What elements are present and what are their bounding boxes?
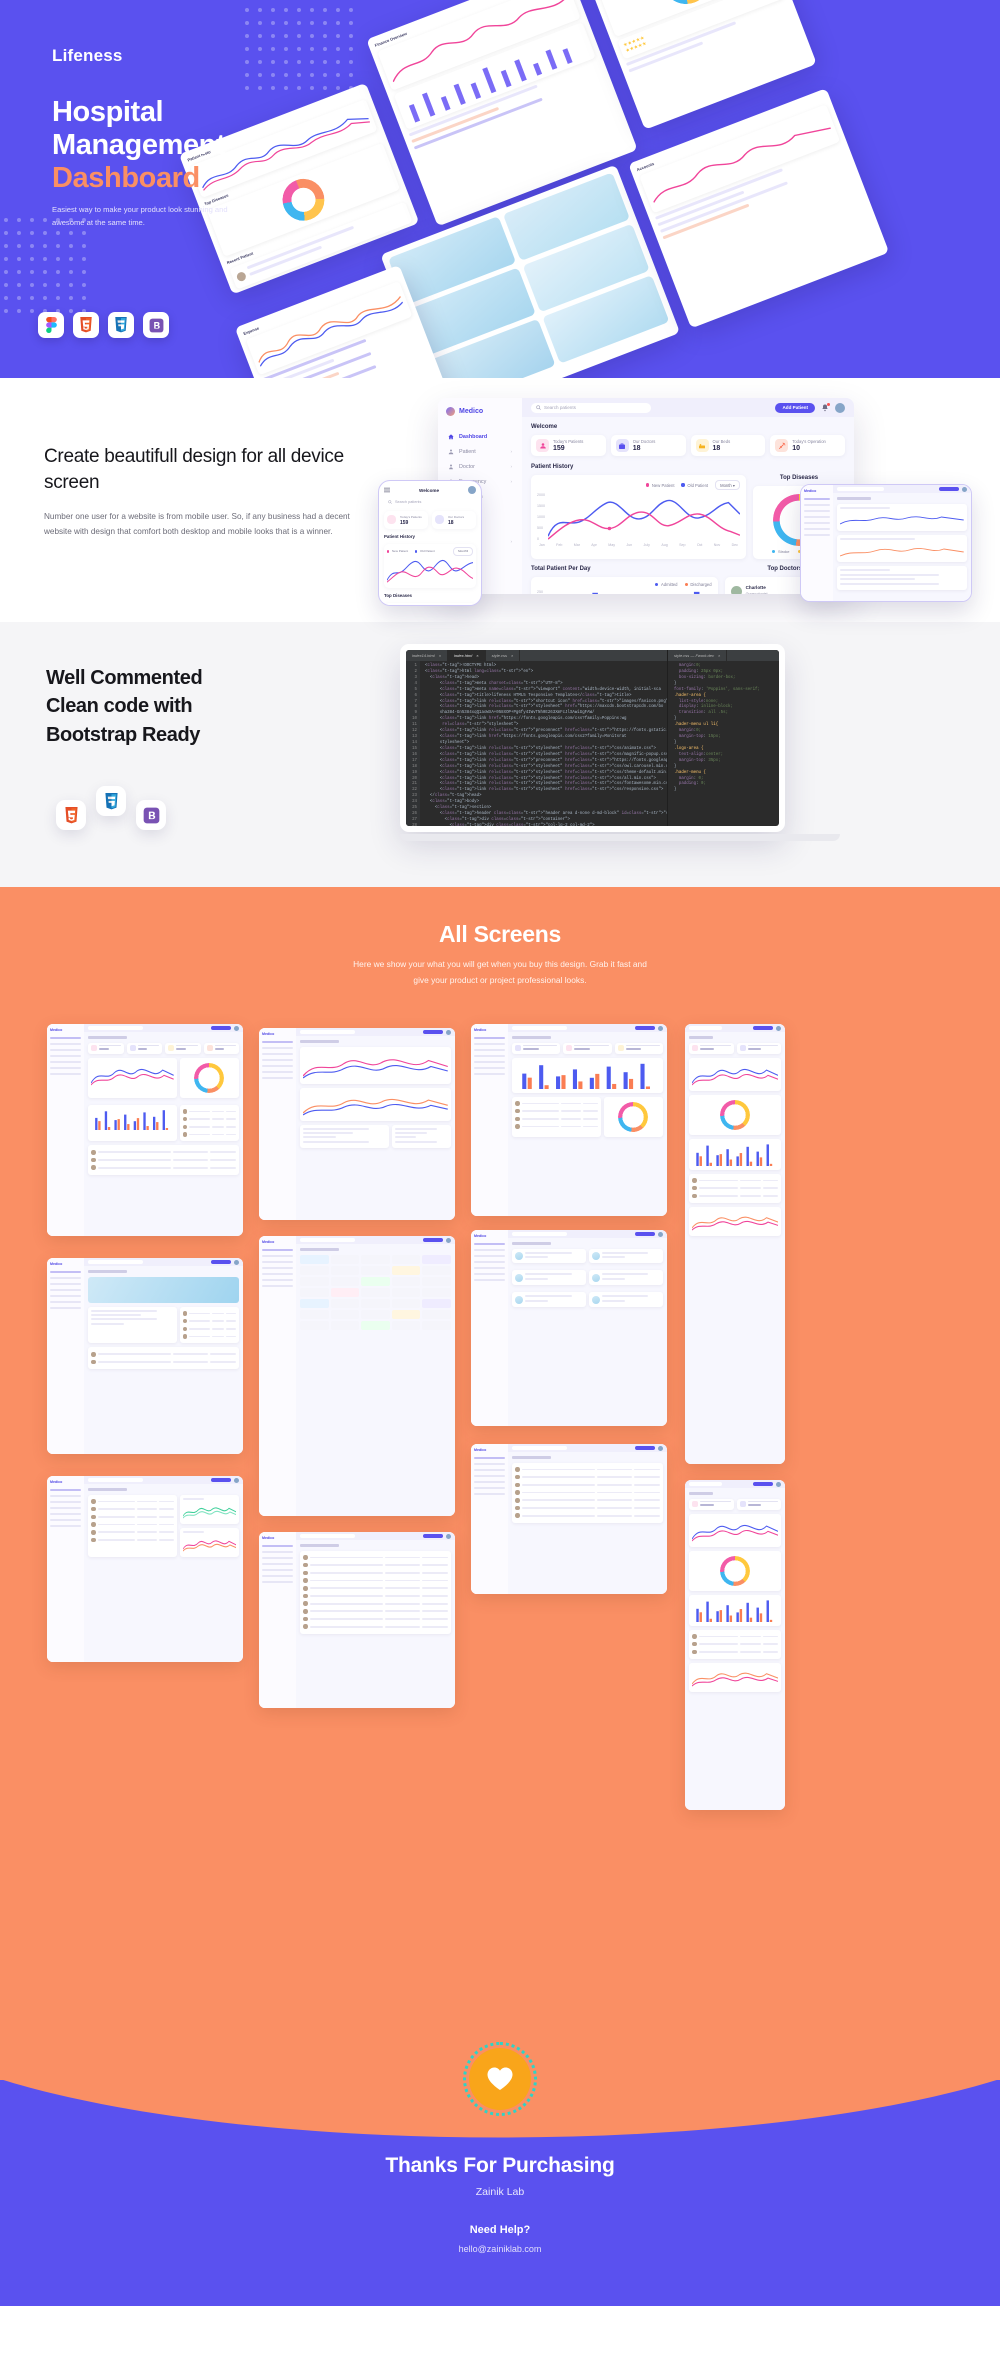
mini-nav-item[interactable] <box>50 1513 81 1515</box>
devices-heading: Create beautifull design for all device … <box>44 444 354 495</box>
mini-nav-item[interactable] <box>50 1283 81 1285</box>
mini-avatar[interactable] <box>658 1446 663 1451</box>
sidebar-item-patient[interactable]: Patient› <box>446 444 514 459</box>
figma-glyph <box>45 317 58 333</box>
mini-nav-item[interactable] <box>262 1047 293 1049</box>
dot <box>30 231 34 235</box>
editor-tab[interactable]: style.css× <box>486 650 521 661</box>
mini-table-row[interactable] <box>303 1623 448 1631</box>
mini-nav-item[interactable] <box>50 1307 81 1309</box>
app-logo[interactable]: Medico <box>446 407 514 416</box>
dot <box>271 60 275 64</box>
screenshot-finance[interactable]: Medico <box>259 1028 455 1220</box>
dot <box>56 296 60 300</box>
mini-search-input[interactable] <box>512 1446 566 1450</box>
mini-nav-item[interactable] <box>474 1243 505 1245</box>
sidebar-item-doctor[interactable]: Doctor› <box>446 459 514 474</box>
mini-nav-item[interactable] <box>50 1271 81 1273</box>
mini-schedule-slot[interactable] <box>331 1321 360 1330</box>
css3-glyph <box>114 317 128 333</box>
mini-schedule-slot[interactable] <box>361 1255 390 1264</box>
mini-schedule-slot[interactable] <box>392 1266 421 1275</box>
dot <box>271 47 275 51</box>
tablet-avatar[interactable] <box>962 487 967 492</box>
mini-schedule-slot[interactable] <box>422 1310 451 1319</box>
legend-admitted: Admitted <box>655 582 677 587</box>
screenshot-expense[interactable]: Medico <box>471 1024 667 1216</box>
screenshot-mobile2[interactable] <box>685 1480 785 1810</box>
mini-nav-item[interactable] <box>474 1061 505 1063</box>
mini-avatar[interactable] <box>234 1478 239 1483</box>
mini-stat-card[interactable] <box>563 1043 611 1054</box>
screenshot-vitals[interactable]: Medico <box>47 1476 243 1662</box>
mini-table-row[interactable] <box>692 1633 778 1641</box>
mini-nav-item[interactable] <box>262 1279 293 1281</box>
mini-nav-item[interactable] <box>474 1073 505 1075</box>
mini-topbar <box>84 1258 243 1266</box>
mini-table-row[interactable] <box>515 1512 660 1520</box>
mini-nav-item[interactable] <box>50 1073 81 1075</box>
mini-search-input[interactable] <box>300 1238 354 1242</box>
editor-tab-label: style.css — Fwork.dev <box>674 653 714 658</box>
stat-card[interactable]: Our Beds18 <box>691 435 766 456</box>
mini-nav-item[interactable] <box>474 1493 505 1495</box>
mini-doctor-card[interactable] <box>512 1292 586 1307</box>
mini-nav-item[interactable] <box>262 1261 293 1263</box>
mini-table-row[interactable] <box>515 1504 660 1512</box>
mini-table-row[interactable] <box>183 1108 236 1116</box>
mini-schedule-slot[interactable] <box>392 1255 421 1264</box>
mini-search-input[interactable] <box>88 1026 142 1030</box>
mini-line-chart <box>303 1091 448 1117</box>
close-icon[interactable]: × <box>439 653 441 658</box>
html5-icon[interactable] <box>56 800 86 830</box>
dot <box>336 8 340 12</box>
mini-bar-chart <box>515 1061 660 1089</box>
mini-schedule-slot[interactable] <box>300 1321 329 1330</box>
add-patient-button[interactable]: Add Patient <box>775 403 815 413</box>
mini-schedule-slot[interactable] <box>422 1299 451 1308</box>
mini-nav-item[interactable] <box>474 1469 505 1471</box>
mini-nav-item[interactable] <box>50 1519 81 1521</box>
mini-doctor-card[interactable] <box>589 1270 663 1285</box>
mini-line-chart <box>183 1502 236 1520</box>
bootstrap-icon[interactable] <box>136 800 166 830</box>
mini-nav-item[interactable] <box>474 1043 505 1045</box>
mini-table-row[interactable] <box>692 1648 778 1656</box>
subtitle-line-2: give your product or project professiona… <box>413 975 586 985</box>
dot <box>82 257 86 261</box>
mini-sidebar: Medico <box>47 1024 84 1236</box>
mini-doctor-card[interactable] <box>512 1249 586 1264</box>
mini-table-row[interactable] <box>303 1554 448 1562</box>
mini-dashboard <box>685 1024 785 1464</box>
mini-table-row[interactable] <box>303 1569 448 1577</box>
doctor-avatar <box>731 586 742 595</box>
mini-nav-item[interactable] <box>50 1043 81 1045</box>
mini-nav-item[interactable] <box>262 1077 293 1079</box>
mini-topbar <box>296 1236 455 1244</box>
mini-add-button[interactable] <box>211 1260 231 1265</box>
mini-schedule-slot[interactable] <box>361 1321 390 1330</box>
mini-search-input[interactable] <box>512 1232 566 1236</box>
mini-table-row[interactable] <box>303 1584 448 1592</box>
dot <box>69 231 73 235</box>
screenshot-dashboard[interactable]: Medico <box>47 1024 243 1236</box>
mini-search-input[interactable] <box>512 1026 566 1030</box>
mini-nav-item[interactable] <box>50 1507 81 1509</box>
mini-stat-card[interactable] <box>512 1043 560 1054</box>
mini-schedule-slot[interactable] <box>392 1299 421 1308</box>
medico-dashboard: Medico DashboardPatient›Doctor›Emergency… <box>438 398 854 594</box>
mini-nav-item[interactable] <box>474 1475 505 1477</box>
editor-tab-label: index14.html <box>412 653 435 658</box>
mini-table-row[interactable] <box>91 1528 174 1536</box>
mini-table-row[interactable] <box>183 1310 236 1318</box>
html5-glyph <box>64 807 79 824</box>
mini-table-row[interactable] <box>692 1192 778 1200</box>
html5-glyph <box>79 317 93 333</box>
mini-schedule-slot[interactable] <box>300 1255 329 1264</box>
mini-nav-item[interactable] <box>262 1551 293 1553</box>
stat-card[interactable]: Today's Patients159 <box>531 435 606 456</box>
mini-schedule-slot[interactable] <box>392 1277 421 1286</box>
doctor-specialty: Gynecologist <box>746 592 768 594</box>
mini-nav-item[interactable] <box>262 1255 293 1257</box>
dot <box>284 34 288 38</box>
footer-section: Thanks For Purchasing Zainik Lab Need He… <box>0 2080 1000 2306</box>
stat-card[interactable]: Today's Operation10 <box>770 435 845 456</box>
mini-table-row[interactable] <box>515 1496 660 1504</box>
mini-avatar[interactable] <box>776 1026 781 1031</box>
donut-chart <box>276 173 330 227</box>
mini-table-row[interactable] <box>183 1317 236 1325</box>
search-input[interactable]: Search patients <box>531 403 651 413</box>
mini-schedule-slot[interactable] <box>331 1288 360 1297</box>
user-avatar[interactable] <box>468 486 476 494</box>
mini-nav-item[interactable] <box>474 1249 505 1251</box>
mini-table-row[interactable] <box>692 1184 778 1192</box>
tablet-add-button[interactable] <box>939 487 959 492</box>
css-text[interactable]: margin:0; padding: 25px 0px; box-sizing:… <box>668 661 779 826</box>
dot <box>69 283 73 287</box>
dot <box>82 270 86 274</box>
css3-icon[interactable] <box>96 786 126 816</box>
mini-schedule-slot[interactable] <box>392 1288 421 1297</box>
mini-sidebar: Medico <box>259 1236 296 1516</box>
mini-add-button[interactable] <box>635 1232 655 1237</box>
mini-nav-item[interactable] <box>474 1457 505 1459</box>
dot <box>82 231 86 235</box>
mini-nav-item[interactable] <box>474 1067 505 1069</box>
mini-schedule-slot[interactable] <box>331 1299 360 1308</box>
mini-doctor-card[interactable] <box>589 1249 663 1264</box>
stat-value: 10 <box>792 445 826 452</box>
mini-schedule-slot[interactable] <box>361 1288 390 1297</box>
mini-table-row[interactable] <box>692 1177 778 1185</box>
mini-schedule-slot[interactable] <box>331 1255 360 1264</box>
mini-nav-item[interactable] <box>50 1495 81 1497</box>
mini-search-input[interactable] <box>689 1026 722 1030</box>
mini-avatar[interactable] <box>234 1260 239 1265</box>
mini-stat-row <box>88 1043 239 1054</box>
mini-nav-item[interactable] <box>50 1501 81 1503</box>
mini-nav-item[interactable] <box>50 1067 81 1069</box>
mini-schedule-slot[interactable] <box>331 1266 360 1275</box>
editor-tab[interactable]: index14.html× <box>406 650 448 661</box>
mini-add-button[interactable] <box>423 1030 443 1035</box>
mini-add-button[interactable] <box>423 1534 443 1539</box>
mini-nav-item[interactable] <box>262 1267 293 1269</box>
mini-table-row[interactable] <box>91 1505 174 1513</box>
mini-schedule-slot[interactable] <box>331 1310 360 1319</box>
mini-table-row[interactable] <box>303 1615 448 1623</box>
mini-body <box>296 1540 455 1708</box>
mini-table-row[interactable] <box>183 1333 236 1341</box>
mini-nav-item[interactable] <box>262 1575 293 1577</box>
mini-nav-item[interactable] <box>262 1569 293 1571</box>
mini-nav-item[interactable] <box>50 1277 81 1279</box>
mini-table-row[interactable] <box>183 1115 236 1123</box>
home-icon <box>448 434 454 440</box>
dot <box>43 218 47 222</box>
mini-schedule-slot[interactable] <box>422 1288 451 1297</box>
range-select[interactable]: Month ▾ <box>715 480 740 490</box>
mini-body <box>296 1244 455 1516</box>
screenshot-profile[interactable]: Medico <box>47 1258 243 1454</box>
mini-table-row[interactable] <box>91 1513 174 1521</box>
mini-table-row[interactable] <box>303 1608 448 1616</box>
stat-card[interactable]: Our Doctors18 <box>611 435 686 456</box>
mini-doctor-card[interactable] <box>589 1292 663 1307</box>
close-icon[interactable]: × <box>511 653 513 658</box>
mini-stat-card[interactable] <box>127 1043 162 1054</box>
mini-doctor-card[interactable] <box>512 1270 586 1285</box>
mini-nav-item[interactable] <box>474 1255 505 1257</box>
mini-nav-item[interactable] <box>474 1037 505 1039</box>
dot <box>245 21 249 25</box>
mini-table-row[interactable] <box>515 1481 660 1489</box>
mini-nav-item[interactable] <box>474 1049 505 1051</box>
screenshot-doctors[interactable]: Medico <box>471 1230 667 1426</box>
mini-dashboard: Medico <box>259 1532 455 1708</box>
mini-nav-item[interactable] <box>50 1525 81 1527</box>
mini-nav-item[interactable] <box>262 1041 293 1043</box>
code-line: <class="t-tag">title>lifeness HTML5 Tesp… <box>425 694 667 700</box>
screenshot-emergency[interactable]: Medico <box>259 1532 455 1708</box>
mini-nav-item[interactable] <box>50 1037 81 1039</box>
mini-table-row[interactable] <box>515 1466 660 1474</box>
mini-add-button[interactable] <box>211 1026 231 1031</box>
mini-add-button[interactable] <box>635 1446 655 1451</box>
mini-nav-item[interactable] <box>262 1059 293 1061</box>
mini-nav-item[interactable] <box>50 1295 81 1297</box>
mini-table-row[interactable] <box>91 1164 236 1172</box>
mini-table-row[interactable] <box>515 1123 598 1131</box>
mini-schedule-slot[interactable] <box>392 1310 421 1319</box>
mini-stat-card[interactable] <box>615 1043 663 1054</box>
mini-stat-card[interactable] <box>165 1043 200 1054</box>
footer-company: Zainik Lab <box>0 2186 1000 2198</box>
search-icon <box>388 500 392 504</box>
mini-add-button[interactable] <box>423 1238 443 1243</box>
mini-add-button[interactable] <box>211 1478 231 1483</box>
mini-schedule-slot[interactable] <box>422 1321 451 1330</box>
mini-table-row[interactable] <box>303 1592 448 1600</box>
mini-table-row[interactable] <box>91 1358 236 1366</box>
close-icon[interactable]: × <box>476 653 478 658</box>
mini-schedule-slot[interactable] <box>392 1321 421 1330</box>
mini-table-row[interactable] <box>515 1473 660 1481</box>
mini-nav-item[interactable] <box>474 1273 505 1275</box>
code-text[interactable]: <class="t-tag">!DOCTYPE html><class="t-t… <box>420 661 667 826</box>
dot <box>43 244 47 248</box>
mini-avatar[interactable] <box>658 1232 663 1237</box>
mini-table-row[interactable] <box>515 1107 598 1115</box>
all-screens-title: All Screens <box>0 921 1000 948</box>
hamburger-menu-icon[interactable] <box>384 487 390 493</box>
mini-nav-item[interactable] <box>474 1055 505 1057</box>
mini-add-button[interactable] <box>635 1026 655 1031</box>
mini-schedule-slot[interactable] <box>300 1266 329 1275</box>
mini-avatar[interactable] <box>446 1238 451 1243</box>
mini-table-row[interactable] <box>515 1489 660 1497</box>
mini-schedule-slot[interactable] <box>361 1299 390 1308</box>
mini-body <box>296 1036 455 1220</box>
mini-stat-card[interactable] <box>204 1043 239 1054</box>
mini-schedule-slot[interactable] <box>300 1277 329 1286</box>
stat-value: 159 <box>553 445 583 452</box>
mini-nav-item[interactable] <box>50 1301 81 1303</box>
mini-avatar[interactable] <box>446 1534 451 1539</box>
screenshot-expenselist[interactable]: Medico <box>471 1444 667 1594</box>
html5-icon[interactable] <box>73 312 99 338</box>
dot <box>258 34 262 38</box>
mini-search-input[interactable] <box>689 1482 722 1486</box>
dot <box>284 8 288 12</box>
mini-line-chart <box>91 1061 174 1087</box>
close-icon[interactable]: × <box>718 653 720 658</box>
mini-table-row[interactable] <box>91 1156 236 1164</box>
mini-table-row[interactable] <box>303 1561 448 1569</box>
mini-schedule-slot[interactable] <box>422 1277 451 1286</box>
mini-nav-item[interactable] <box>474 1487 505 1489</box>
mini-table-row[interactable] <box>91 1498 174 1506</box>
mini-nav-item[interactable] <box>262 1071 293 1073</box>
mini-nav-item[interactable] <box>50 1289 81 1291</box>
footer-email[interactable]: hello@zainiklab.com <box>0 2244 1000 2254</box>
mini-schedule-slot[interactable] <box>422 1266 451 1275</box>
mini-search-input[interactable] <box>300 1534 354 1538</box>
mini-body <box>508 1032 667 1216</box>
dot <box>258 8 262 12</box>
mini-table-row[interactable] <box>515 1100 598 1108</box>
mini-nav-item[interactable] <box>262 1557 293 1559</box>
mini-table-row[interactable] <box>303 1577 448 1585</box>
notification-dot <box>827 403 830 406</box>
mini-schedule-slot[interactable] <box>300 1288 329 1297</box>
screenshot-schedule[interactable]: Medico <box>259 1236 455 1516</box>
mini-avatar[interactable] <box>658 1026 663 1031</box>
phone-mockup: Welcome Search patients Today's Patients… <box>378 480 482 606</box>
mini-table-row[interactable] <box>515 1115 598 1123</box>
css3-icon[interactable] <box>108 312 134 338</box>
sidebar-item-dashboard[interactable]: Dashboard <box>446 429 514 444</box>
figma-icon[interactable] <box>38 312 64 338</box>
mini-schedule-slot[interactable] <box>361 1310 390 1319</box>
mini-table-row[interactable] <box>91 1536 174 1544</box>
mini-nav-item[interactable] <box>50 1489 81 1491</box>
mini-search-input[interactable] <box>88 1478 142 1482</box>
mini-nav-item[interactable] <box>50 1061 81 1063</box>
mini-nav-item[interactable] <box>50 1049 81 1051</box>
mini-nav-item[interactable] <box>262 1065 293 1067</box>
mini-table-row[interactable] <box>91 1521 174 1529</box>
mini-nav-item[interactable] <box>262 1285 293 1287</box>
mini-table-row[interactable] <box>303 1600 448 1608</box>
mini-search-input[interactable] <box>88 1260 142 1264</box>
mini-table-row[interactable] <box>183 1131 236 1139</box>
mini-nav-item[interactable] <box>262 1273 293 1275</box>
screenshot-mobile[interactable] <box>685 1024 785 1464</box>
mini-add-button[interactable] <box>753 1482 773 1487</box>
dot <box>297 34 301 38</box>
phone-search-input[interactable]: Search patients <box>384 498 476 506</box>
bootstrap-glyph <box>143 807 160 824</box>
mini-app-name: Medico <box>50 1028 81 1032</box>
mini-table-row[interactable] <box>91 1148 236 1156</box>
mini-nav-item[interactable] <box>262 1563 293 1565</box>
mini-table-row[interactable] <box>692 1640 778 1648</box>
mini-avatar[interactable] <box>446 1030 451 1035</box>
mini-avatar[interactable] <box>776 1482 781 1487</box>
mini-table-row[interactable] <box>183 1123 236 1131</box>
mini-schedule-slot[interactable] <box>422 1255 451 1264</box>
mini-nav-item[interactable] <box>474 1481 505 1483</box>
sidebar-item-label: Patient <box>459 449 476 455</box>
mini-avatar[interactable] <box>234 1026 239 1031</box>
dot <box>284 47 288 51</box>
mini-nav-item[interactable] <box>50 1055 81 1057</box>
mini-table-row[interactable] <box>91 1350 236 1358</box>
user-avatar[interactable] <box>835 403 845 413</box>
editor-tab[interactable]: index.html× <box>448 650 486 661</box>
mini-nav-item[interactable] <box>262 1581 293 1583</box>
mini-nav-item[interactable] <box>262 1545 293 1547</box>
mini-nav-item[interactable] <box>474 1261 505 1263</box>
mini-topbar <box>84 1476 243 1484</box>
mini-schedule-slot[interactable] <box>331 1277 360 1286</box>
mini-nav-item[interactable] <box>262 1053 293 1055</box>
editor-tab[interactable]: style.css — Fwork.dev× <box>668 650 727 661</box>
mini-nav-item[interactable] <box>474 1463 505 1465</box>
mini-stat-card[interactable] <box>88 1043 123 1054</box>
mini-schedule-slot[interactable] <box>300 1310 329 1319</box>
mini-nav-item[interactable] <box>474 1279 505 1281</box>
mini-table-row[interactable] <box>183 1325 236 1333</box>
welcome-heading: Welcome <box>531 424 845 430</box>
notification-bell-icon[interactable] <box>821 404 829 412</box>
mini-add-button[interactable] <box>753 1026 773 1031</box>
mini-schedule-slot[interactable] <box>361 1266 390 1275</box>
bootstrap-icon[interactable] <box>143 312 169 338</box>
mini-schedule-slot[interactable] <box>300 1299 329 1308</box>
mini-nav-item[interactable] <box>262 1249 293 1251</box>
mini-schedule-slot[interactable] <box>361 1277 390 1286</box>
mini-search-input[interactable] <box>300 1030 354 1034</box>
mini-topbar <box>296 1532 455 1540</box>
mini-nav-item[interactable] <box>474 1267 505 1269</box>
